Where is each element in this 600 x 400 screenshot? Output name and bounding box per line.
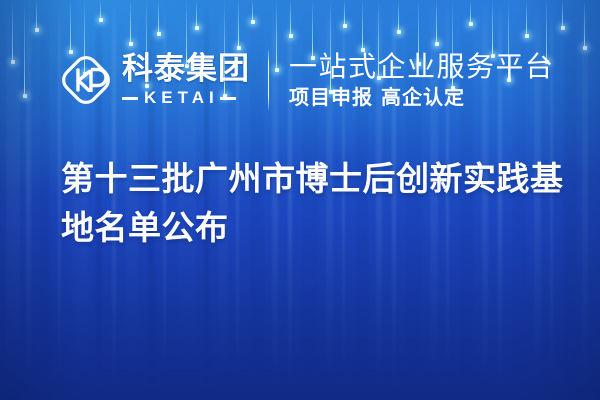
page-title: 第十三批广州市博士后创新实践基地名单公布: [61, 155, 566, 253]
brand-name-cn: 科泰集团: [122, 53, 250, 84]
header-divider: [268, 50, 269, 110]
slogan-main: 一站式企业服务平台: [289, 52, 555, 82]
brand-name-en: KETAI: [144, 89, 219, 107]
wordmark-dash-left: [122, 97, 138, 100]
wordmark-dash-right: [220, 97, 236, 100]
announcement-banner: 科泰集团 KETAI 一站式企业服务平台 项目申报 高企认定 第十三批广州市博士…: [0, 0, 600, 400]
slogan-block: 一站式企业服务平台 项目申报 高企认定: [289, 52, 555, 109]
slogan-sub: 项目申报 高企认定: [289, 87, 555, 109]
banner-header: 科泰集团 KETAI 一站式企业服务平台 项目申报 高企认定: [58, 42, 555, 118]
brand-wordmark: 科泰集团 KETAI: [122, 53, 250, 107]
ketai-diamond-kp-logo-icon: [58, 52, 114, 108]
brand-name-en-row: KETAI: [122, 89, 250, 107]
